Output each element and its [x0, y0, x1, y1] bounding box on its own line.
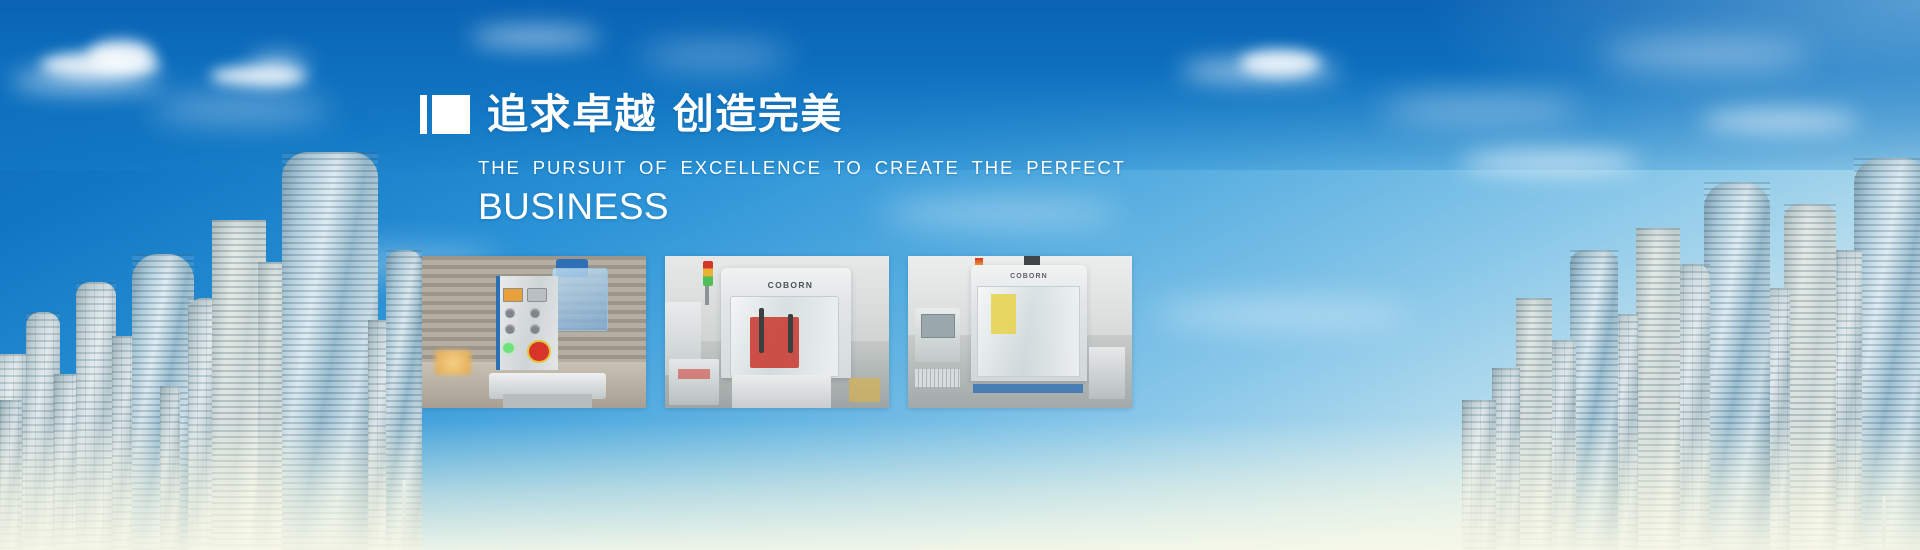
banner-subtitle: THE PURSUIT OF EXCELLENCE TO CREATE THE …	[478, 157, 1140, 179]
hero-banner: 追求卓越 创造完美 THE PURSUIT OF EXCELLENCE TO C…	[0, 0, 1920, 550]
banner-headline: 追求卓越 创造完美	[487, 94, 843, 135]
photo-coborn-machine-center: COBORN	[665, 256, 889, 408]
photo-surface-grinding-machine	[422, 256, 646, 408]
photo-strip: COBORN COBORN	[422, 256, 1132, 408]
photo-coborn-machine-right: COBORN	[908, 256, 1132, 408]
machine-brand-label: COBORN	[982, 273, 1076, 280]
horizon-haze	[0, 420, 1920, 550]
headline-row: 追求卓越 创造完美	[420, 88, 1140, 140]
bar-and-square-mark-icon	[420, 95, 470, 134]
banner-business-word: BUSINESS	[478, 187, 1140, 228]
machine-brand-label: COBORN	[746, 280, 836, 290]
banner-content: 追求卓越 创造完美 THE PURSUIT OF EXCELLENCE TO C…	[420, 88, 1140, 228]
